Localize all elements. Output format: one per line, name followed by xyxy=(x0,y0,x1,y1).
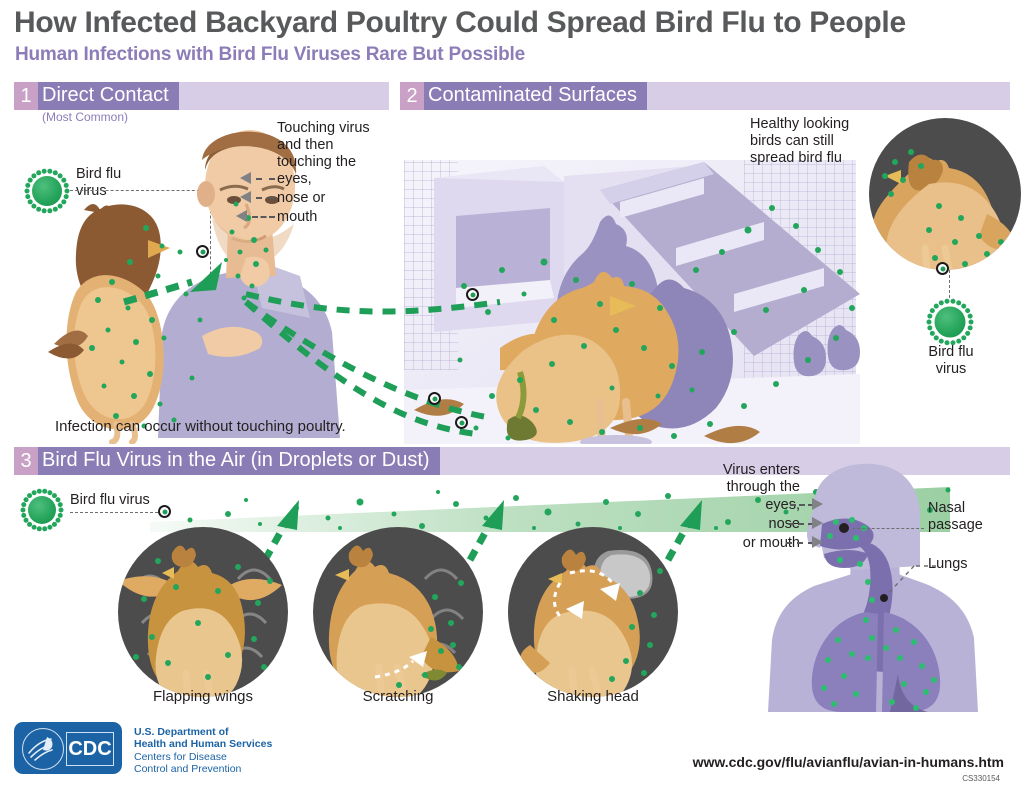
entry-eyes-dash xyxy=(790,504,814,506)
route-mouth-dash xyxy=(252,216,275,218)
route-nose-label: nose or xyxy=(277,190,325,207)
entry-nose-arrow-icon xyxy=(812,517,823,529)
route-eyes-label: eyes, xyxy=(277,171,312,188)
bird-circle-scratching xyxy=(313,527,483,697)
healthy-note-line-2: birds can still xyxy=(750,133,834,149)
section-2-header: 2 Contaminated Surfaces xyxy=(400,82,1010,110)
agency-line-3: Centers for Disease xyxy=(134,751,227,763)
agency-line-1: U.S. Department of xyxy=(134,726,229,738)
section-1-header: 1 Direct Contact xyxy=(14,82,389,110)
surface-node-feather xyxy=(428,392,441,405)
bird-flu-virus-icon-3 xyxy=(20,488,64,532)
section-3-virus-label: Bird flu virus xyxy=(70,492,150,509)
virus-entry-line-2: through the xyxy=(727,479,800,495)
healthy-bird-node xyxy=(936,262,949,275)
agency-text: U.S. Department of Health and Human Serv… xyxy=(134,726,272,776)
touch-text-line-2: and then xyxy=(277,137,333,153)
section-1-number: 1 xyxy=(14,82,38,110)
route-eyes-dash xyxy=(256,178,275,180)
virus-entry-line-1: Virus enters xyxy=(723,462,800,478)
entry-nose-dash xyxy=(788,523,814,525)
section-3-virus-leader xyxy=(70,512,158,513)
transmission-arrow-1 xyxy=(118,236,248,316)
lungs-label: Lungs xyxy=(928,556,968,573)
cdc-wordmark: CDC xyxy=(66,732,114,766)
agency-line-4: Control and Prevention xyxy=(134,763,241,775)
section-3-title: Bird Flu Virus in the Air (in Droplets o… xyxy=(38,447,440,475)
cdc-url[interactable]: www.cdc.gov/flu/avianflu/avian-in-humans… xyxy=(693,754,1004,770)
hhs-seal-icon xyxy=(22,728,64,770)
entry-nose-label: nose xyxy=(660,516,800,533)
nasal-label-line-2: passage xyxy=(928,517,983,533)
route-nose-arrow-icon xyxy=(240,191,251,203)
section-1-title: Direct Contact xyxy=(38,82,179,110)
virus-entry-note: Virus enters through the xyxy=(660,462,800,496)
bird-circle-caption-3: Shaking head xyxy=(493,688,693,705)
route-eyes-arrow-icon xyxy=(240,172,251,184)
bird-circle-flapping xyxy=(118,527,288,697)
healthy-bird-leader xyxy=(949,270,950,298)
healthy-note-line-1: Healthy looking xyxy=(750,116,849,132)
bird-circle-caption-2: Scratching xyxy=(298,688,498,705)
nasal-passage-label: Nasal passage xyxy=(928,500,1022,534)
cs-number: CS330154 xyxy=(962,774,1000,783)
touch-text-line-1: Touching virus xyxy=(277,120,370,136)
page-title: How Infected Backyard Poultry Could Spre… xyxy=(14,6,906,40)
cdc-logo: CDC xyxy=(14,722,122,774)
surface-node-droppings xyxy=(455,416,468,429)
entry-eyes-label: eyes, xyxy=(660,497,800,514)
section-2-title: Contaminated Surfaces xyxy=(424,82,647,110)
bird-circle-caption-1: Flapping wings xyxy=(103,688,303,705)
section-1-bar-tail xyxy=(179,82,389,110)
touch-instruction-text: Touching virus and then touching the xyxy=(277,120,387,171)
entry-mouth-arrow-icon xyxy=(812,536,823,548)
healthy-note-line-3: spread bird flu xyxy=(750,150,842,166)
virus-2-label-line-1: Bird flu xyxy=(928,344,973,360)
route-mouth-label: mouth xyxy=(277,209,317,226)
plume-feed-arrow-2 xyxy=(460,500,510,564)
healthy-bird-note: Healthy looking birds can still spread b… xyxy=(750,116,880,167)
bird-circle-shaking xyxy=(508,527,678,697)
infographic-page: How Infected Backyard Poultry Could Spre… xyxy=(0,0,1022,786)
section-2-virus-label: Bird flu virus xyxy=(896,344,1006,378)
nasal-label-line-1: Nasal xyxy=(928,500,965,516)
agency-line-2: Health and Human Services xyxy=(134,738,272,750)
contact-node-face xyxy=(196,245,209,258)
virus-label-line-1: Bird flu xyxy=(76,166,121,182)
entry-eyes-arrow-icon xyxy=(812,498,823,510)
section-2-bar-tail xyxy=(647,82,1010,110)
section-2-number: 2 xyxy=(400,82,424,110)
nasal-leader-line xyxy=(852,528,924,529)
route-nose-dash xyxy=(256,197,275,199)
entry-mouth-dash xyxy=(786,542,814,544)
page-subtitle: Human Infections with Bird Flu Viruses R… xyxy=(15,44,525,66)
healthy-bird-circle xyxy=(869,118,1021,270)
virus-2-label-line-2: virus xyxy=(936,361,967,377)
bird-flu-virus-icon-2 xyxy=(926,298,974,346)
section-3-number: 3 xyxy=(14,447,38,475)
surface-node-box xyxy=(466,288,479,301)
transmission-paths-section-2 xyxy=(232,258,522,438)
touch-text-line-3: touching the xyxy=(277,154,356,170)
route-mouth-arrow-icon xyxy=(236,210,247,222)
section-1-note: (Most Common) xyxy=(42,110,128,124)
entry-mouth-label: or mouth xyxy=(652,535,800,552)
